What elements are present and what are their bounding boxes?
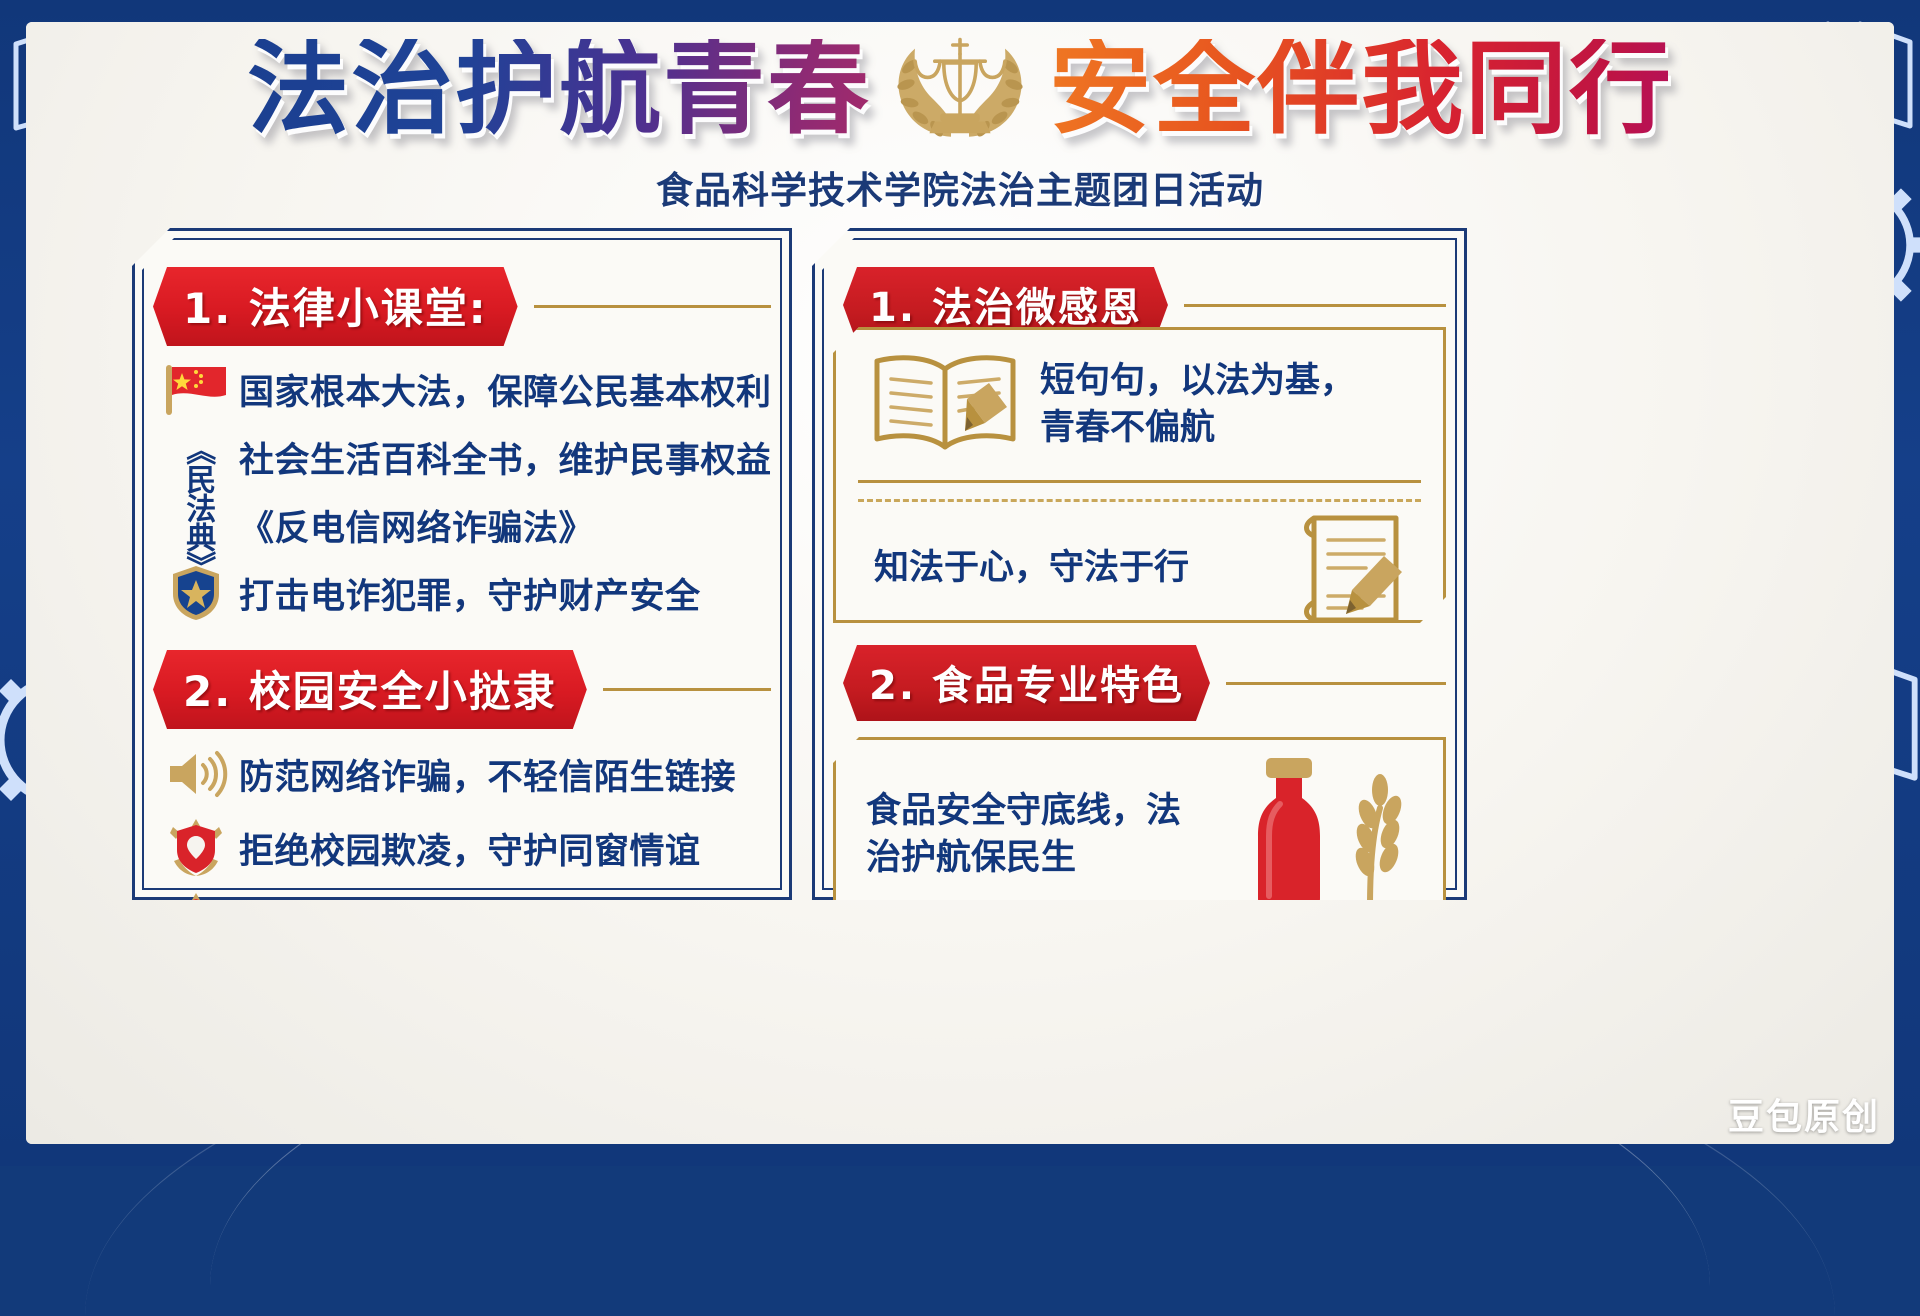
china-flag-icon [153, 361, 239, 417]
poster-root: 法治护航青春 [0, 0, 1920, 1166]
list-item-label: 《反电信网络诈骗法》 [239, 500, 594, 551]
page-title-right: 安全伴我同行 [1049, 39, 1673, 141]
right-card-top-text: 短句句，以法为基， 青春不偏航 [1040, 358, 1355, 453]
banner-rule [1184, 304, 1446, 307]
left-section2-banner: 2. 校园安全小挞隶 [153, 650, 587, 729]
left-section1-header: 1. 法律小课堂: [153, 267, 771, 346]
left-panel: 1. 法律小课堂: [132, 228, 792, 900]
list-item: 打击电诈犯罪，守护财产安全 [153, 562, 771, 624]
right-card-top-line1: 短句句，以法为基， [1040, 358, 1355, 405]
list-item-label: 拒绝校园欺凌，守护同窗情谊 [239, 823, 701, 874]
right-card-gratitude: 短句句，以法为基， 青春不偏航 知法于心，守法于行 [833, 327, 1446, 623]
right-panel: 1. 法治微感恩 [812, 228, 1467, 900]
bottle-wheat-icon [1212, 750, 1427, 920]
card-divider-solid [858, 480, 1421, 483]
scales-of-justice-laurel-emblem [885, 27, 1035, 153]
left-section1-banner: 1. 法律小课堂: [153, 267, 518, 346]
list-item: 《反电信网络诈骗法》 [153, 494, 771, 556]
left-section1-list: 国家根本大法，保障公民基本权利 《民法典》 社会生活百科全书，维护民事权益 《反… [153, 358, 771, 624]
page-subtitle: 食品科学技术学院法治主题团日活动 [656, 160, 1264, 214]
list-item-label: 国家根本大法，保障公民基本权利 [239, 364, 772, 415]
right-card-top-line2: 青春不偏航 [1040, 405, 1355, 452]
right-section2-header: 2. 食品专业特色 [833, 645, 1446, 721]
civil-code-label: 《民法典》 [165, 432, 229, 582]
banner-rule [603, 688, 771, 691]
list-item: 社会生活百科全书，维护民事权益 [153, 426, 771, 488]
list-item-label: 社会生活百科全书，维护民事权益 [239, 432, 772, 483]
right-card-bottom-row: 知法于心，守法于行 [836, 502, 1443, 636]
watermark: 豆包原创 [1728, 1088, 1880, 1140]
right-card-top-row: 短句句，以法为基， 青春不偏航 [836, 330, 1443, 480]
right-card-food-text: 食品安全守底线，法 治护航保民生 [852, 788, 1212, 883]
right-section2-banner: 2. 食品专业特色 [843, 645, 1210, 721]
list-item: 拒绝校园欺凌，守护同窗情谊 [153, 817, 771, 879]
list-item-label: 防范网络诈骗，不轻信陌生链接 [239, 749, 736, 800]
list-item: 国家根本大法，保障公民基本权利 [153, 358, 771, 420]
poster-header: 法治护航青春 [0, 26, 1920, 216]
list-item-label: 打击电诈犯罪，守护财产安全 [239, 568, 701, 619]
right-card-bottom-text: 知法于心，守法于行 [850, 545, 1279, 592]
right-card-food-line1: 食品安全守底线，法 [866, 788, 1212, 835]
red-shield-laurel-icon [153, 817, 239, 879]
banner-rule [534, 305, 771, 308]
page-title-left: 法治护航青春 [247, 39, 871, 141]
scroll-pencil-icon [1279, 506, 1429, 632]
right-card-food-line2: 治护航保民生 [866, 835, 1212, 882]
left-section2-header: 2. 校园安全小挞隶 [153, 650, 771, 729]
list-item: 防范网络诈骗，不轻信陌生链接 [153, 743, 771, 805]
title-row: 法治护航青春 [247, 26, 1673, 154]
open-book-pencil-icon [850, 343, 1040, 467]
banner-rule [1226, 682, 1446, 685]
speaker-icon [153, 747, 239, 801]
